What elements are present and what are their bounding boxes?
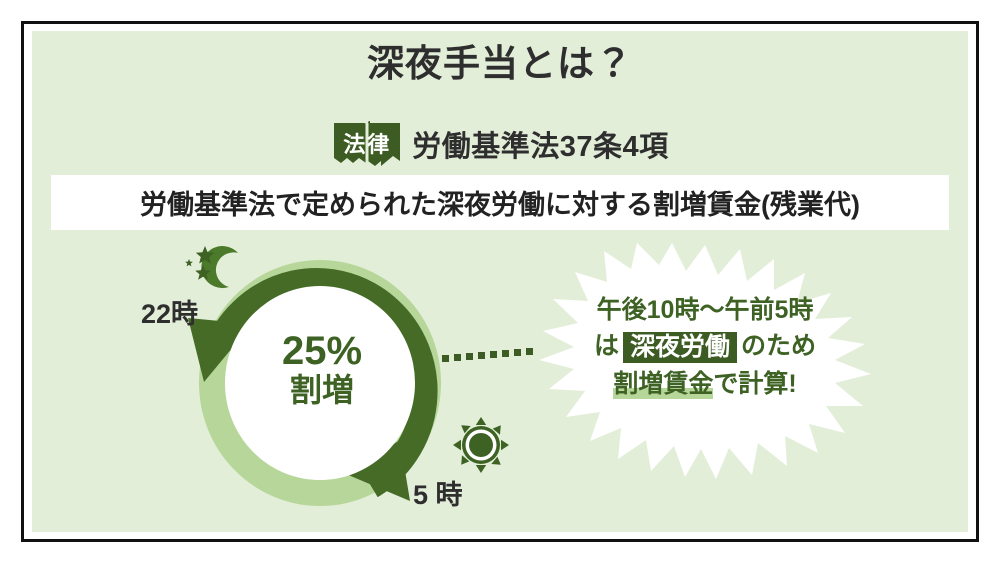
callout-text-block: 午後10時〜午前5時 は深夜労働のため 割増賃金で計算! xyxy=(512,298,898,397)
sun-icon xyxy=(453,417,509,478)
end-time-label: 5 時 xyxy=(413,473,463,512)
definition-banner-text: 労働基準法で定められた深夜労働に対する割増賃金(残業代) xyxy=(140,183,860,222)
law-reference-row: 法律 労働基準法37条4項 xyxy=(0,120,1000,167)
callout-line3-suffix: で計算! xyxy=(713,370,796,398)
definition-banner: 労働基準法で定められた深夜労働に対する割増賃金(残業代) xyxy=(51,175,949,230)
callout-underline-highlight: 割増賃金 xyxy=(613,370,713,399)
callout-line-1: 午後10時〜午前5時 xyxy=(512,298,898,323)
callout-line-3: 割増賃金で計算! xyxy=(512,372,898,397)
callout-line2-suffix: のため xyxy=(741,332,816,360)
callout-highlight-box: 深夜労働 xyxy=(623,332,737,363)
law-badge-label: 法律 xyxy=(331,120,403,167)
infographic-root: 深夜手当とは？ 法律 労働基準法37条4項 労働基準法で定められた深夜労働に対す… xyxy=(0,0,1000,563)
law-book-badge: 法律 xyxy=(331,120,403,167)
callout-line-2: は深夜労働のため xyxy=(512,332,898,363)
callout-line2-prefix: は xyxy=(594,332,619,360)
crescent-moon-stars-icon xyxy=(182,243,244,300)
inner-disc xyxy=(225,286,415,480)
law-article-text: 労働基準法37条4項 xyxy=(412,123,668,165)
page-title: 深夜手当とは？ xyxy=(0,44,1000,85)
